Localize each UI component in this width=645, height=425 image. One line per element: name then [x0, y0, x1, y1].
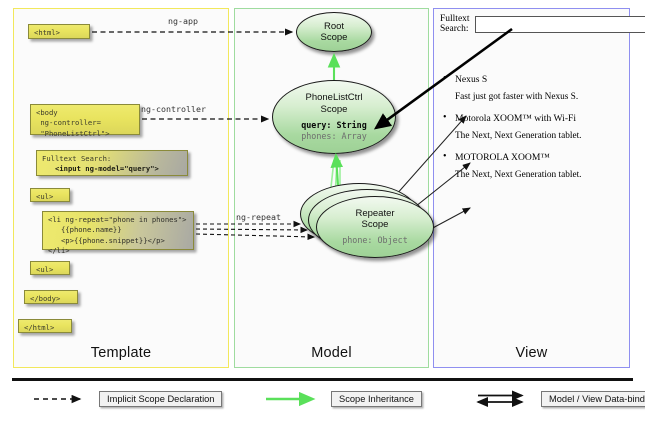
- legend-label-scope-inheritance: Scope Inheritance: [331, 391, 422, 407]
- root-scope-ellipse: Root Scope: [296, 12, 372, 52]
- legend-label-model-view-data-binding: Model / View Data-binding: [541, 391, 645, 407]
- list-item: Motorola XOOM™ with Wi-Fi The Next, Next…: [440, 113, 623, 141]
- view-search-row: Fulltext Search:: [440, 14, 623, 34]
- code-box-ul-open: <ul>: [30, 188, 70, 202]
- code-box-li-ng-repeat: <li ng-repeat="phone in phones"> {{phone…: [42, 211, 194, 250]
- phone-list-ctrl-scope-title: PhoneListCtrl Scope: [305, 92, 362, 114]
- green-arrow-icon: [264, 390, 324, 408]
- list-item: Nexus S Fast just got faster with Nexus …: [440, 74, 623, 102]
- scope-prop-query: query: String: [301, 120, 367, 131]
- phone-snippet: The Next, Next Generation tablet.: [440, 131, 623, 141]
- legend-label-implicit-scope-declaration: Implicit Scope Declaration: [99, 391, 222, 407]
- scope-prop-phone: phone: Object: [342, 235, 408, 246]
- connector-label-ng-app: ng-app: [168, 16, 198, 26]
- phone-name: Motorola XOOM™ with Wi-Fi: [440, 113, 623, 124]
- column-label-model: Model: [235, 345, 428, 361]
- diagram-canvas: Template Model View <html> <body ng-cont…: [0, 0, 645, 425]
- scope-prop-phones: phones: Array: [301, 131, 367, 142]
- search-snippet-label: Fulltext Search:: [42, 154, 111, 163]
- legend-item-implicit-scope-declaration: Implicit Scope Declaration: [32, 390, 222, 408]
- column-label-view: View: [434, 345, 629, 361]
- legend: Implicit Scope Declaration Scope Inherit…: [12, 378, 633, 416]
- double-arrow-icon: [474, 390, 534, 408]
- code-box-html-open: <html>: [28, 24, 90, 39]
- code-box-fulltext-search: Fulltext Search: <input ng-model="query"…: [36, 150, 188, 176]
- legend-divider: [12, 378, 633, 381]
- list-item: MOTOROLA XOOM™ The Next, Next Generation…: [440, 152, 623, 180]
- search-snippet-input: <input ng-model="query">: [42, 164, 159, 173]
- legend-item-model-view-data-binding: Model / View Data-binding: [474, 390, 645, 408]
- connector-label-ng-repeat: ng-repeat: [236, 212, 281, 222]
- phone-list-ctrl-scope-ellipse: PhoneListCtrl Scope query: String phones…: [272, 80, 396, 154]
- view-search-label: Fulltext Search:: [440, 14, 470, 34]
- repeater-scope-ellipse: Repeater Scope phone: Object: [316, 196, 434, 258]
- phone-snippet: Fast just got faster with Nexus S.: [440, 92, 623, 102]
- root-scope-title: Root Scope: [321, 21, 348, 43]
- view-search-input[interactable]: [475, 16, 645, 33]
- phone-snippet: The Next, Next Generation tablet.: [440, 170, 623, 180]
- dashed-arrow-icon: [32, 390, 92, 408]
- code-box-body-tag: <body ng-controller= "PhoneListCtrl">: [30, 104, 140, 135]
- repeater-scope-title: Repeater Scope: [355, 208, 394, 230]
- connector-label-ng-controller: ng-controller: [141, 104, 206, 114]
- code-box-body-close: </body>: [24, 290, 78, 304]
- column-label-template: Template: [14, 345, 228, 361]
- phone-name: MOTOROLA XOOM™: [440, 152, 623, 163]
- legend-item-scope-inheritance: Scope Inheritance: [264, 390, 422, 408]
- view-rendered-output: Fulltext Search: Nexus S Fast just got f…: [440, 14, 623, 191]
- code-box-ul-close: <ul>: [30, 261, 70, 275]
- phone-name: Nexus S: [440, 74, 623, 85]
- code-box-html-close: </html>: [18, 319, 72, 333]
